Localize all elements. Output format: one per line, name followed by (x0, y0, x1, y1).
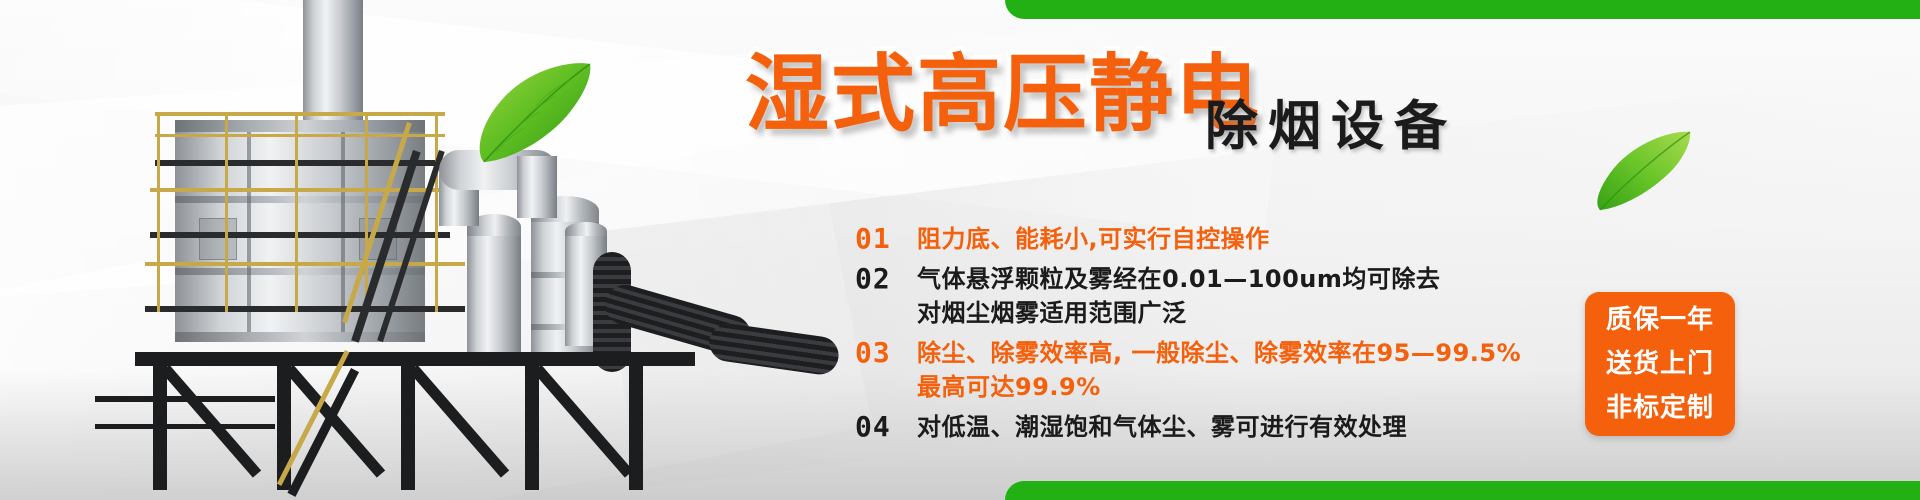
photo-scrubber-tower (467, 236, 521, 364)
photo-support-leg (525, 364, 539, 490)
photo-stack (303, 0, 363, 128)
photo-ground-rail (95, 396, 275, 402)
photo-support-leg (401, 364, 415, 490)
photo-flex-duct (707, 321, 841, 377)
feature-text: 阻力底、能耗小,可实行自控操作 (917, 222, 1270, 256)
photo-handrail (155, 112, 445, 116)
badge-line-custom: 非标定制 (1606, 386, 1714, 430)
photo-rail-post (365, 112, 368, 312)
feature-text: 除尘、除雾效率高, 一般除尘、除雾效率在95—99.5% 最高可达99.9% (917, 336, 1521, 404)
photo-vessel-top-band (175, 120, 425, 132)
green-accent-bar-bottom (1005, 481, 1920, 500)
feature-item: 04 对低温、潮湿饱和气体尘、雾可进行有效处理 (855, 410, 1655, 444)
headline-block: 湿式高压静电 除烟设备 (745, 52, 1845, 162)
feature-list: 01 阻力底、能耗小,可实行自控操作 02 气体悬浮颗粒及雾经在0.01—100… (855, 222, 1655, 450)
photo-support-brace (533, 365, 633, 478)
badge-line-warranty: 质保一年 (1606, 298, 1714, 342)
photo-platform-beam (135, 352, 695, 366)
photo-support-brace (285, 365, 385, 478)
feature-number: 03 (855, 336, 917, 370)
photo-catwalk (155, 160, 445, 166)
feature-number: 01 (855, 222, 917, 256)
feature-number: 04 (855, 410, 917, 444)
feature-number: 02 (855, 262, 917, 296)
photo-catwalk (145, 306, 465, 312)
photo-rail-post (435, 112, 438, 312)
feature-item: 02 气体悬浮颗粒及雾经在0.01—100um均可除去 对烟尘烟雾适用范围广泛 (855, 262, 1655, 330)
feature-item: 01 阻力底、能耗小,可实行自控操作 (855, 222, 1655, 256)
photo-rail-post (225, 112, 228, 312)
photo-ground-rail (95, 424, 275, 429)
green-accent-bar-top (1005, 0, 1920, 19)
photo-vessel-band (175, 332, 425, 342)
photo-catwalk (150, 232, 450, 238)
service-promise-badge: 质保一年 送货上门 非标定制 (1585, 292, 1735, 436)
photo-support-brace (161, 365, 261, 478)
feature-item: 03 除尘、除雾效率高, 一般除尘、除雾效率在95—99.5% 最高可达99.9… (855, 336, 1655, 404)
feature-text: 气体悬浮颗粒及雾经在0.01—100um均可除去 对烟尘烟雾适用范围广泛 (917, 262, 1440, 330)
photo-access-hatch (199, 218, 237, 260)
promotional-banner: 湿式高压静电 除烟设备 01 阻力底、能耗小,可实行自控操作 02 气体悬浮颗粒… (0, 0, 1920, 500)
page-title: 湿式高压静电 (745, 52, 1261, 136)
photo-handrail (145, 262, 465, 266)
photo-vessel-band (175, 268, 425, 275)
photo-rail-post (295, 112, 298, 312)
page-subtitle: 除烟设备 (1205, 100, 1457, 153)
feature-text: 对低温、潮湿饱和气体尘、雾可进行有效处理 (917, 410, 1407, 444)
photo-pipe-down (517, 156, 557, 218)
photo-rail-post (157, 112, 160, 312)
product-photo-electrostatic-precipitator (95, 0, 855, 500)
photo-support-brace (409, 365, 509, 478)
badge-line-delivery: 送货上门 (1606, 342, 1714, 386)
